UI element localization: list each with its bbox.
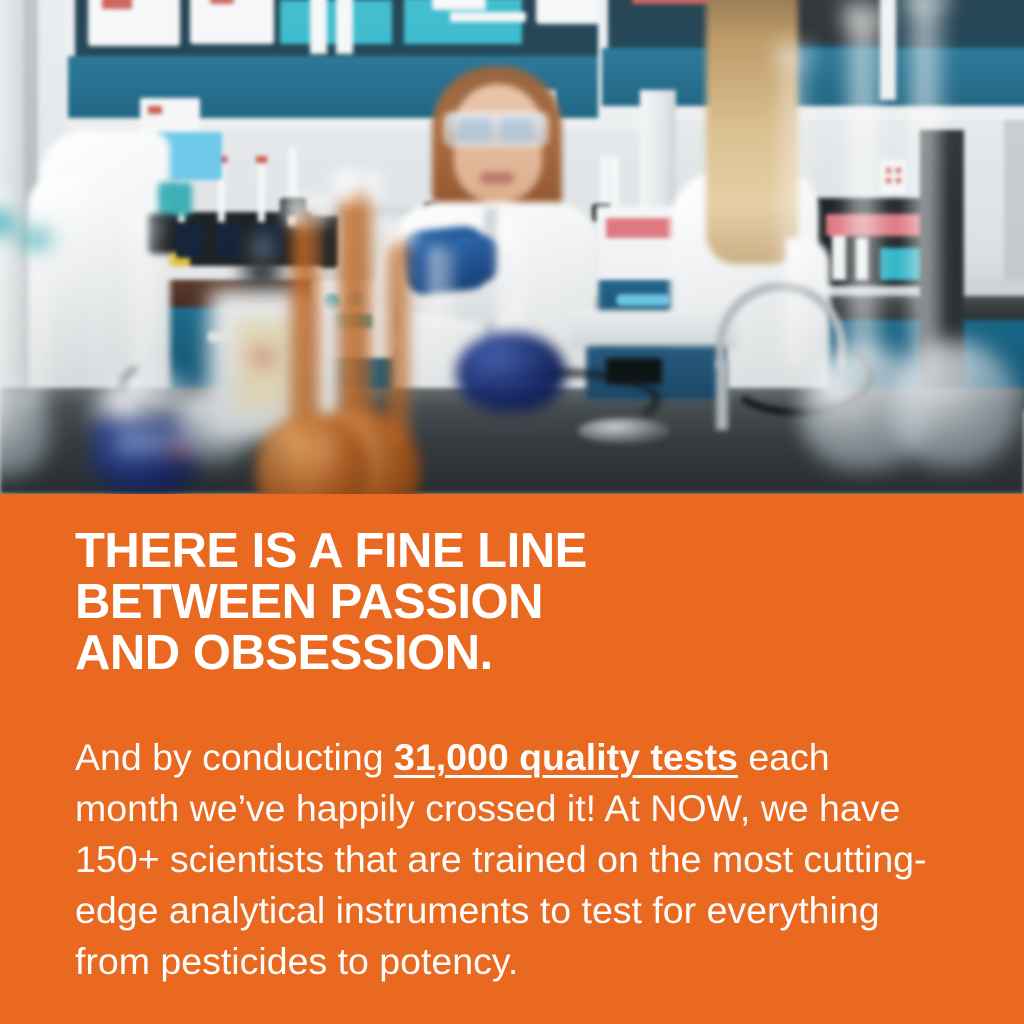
- amber-flask-1-neck: [338, 192, 372, 442]
- headline-line-3: AND OBSESSION.: [75, 628, 975, 679]
- laboratory-photo: 500: [0, 0, 1024, 494]
- blue-flask-neck: [494, 218, 524, 348]
- amber-flask-2-stopper: [280, 194, 330, 226]
- headline-line-1: THERE IS A FINE LINE: [75, 526, 975, 577]
- beaker-near-hand: [426, 246, 452, 330]
- body-text-before: And by conducting: [75, 736, 394, 778]
- amber-flask-3-stopper: [378, 222, 418, 248]
- promo-graphic: 500: [0, 0, 1024, 1024]
- amber-flask-2-neck: [290, 214, 320, 444]
- orange-text-panel: THERE IS A FINE LINE BETWEEN PASSION AND…: [0, 494, 1024, 1024]
- quality-tests-emphasis: 31,000 quality tests: [394, 736, 738, 778]
- headline-line-2: BETWEEN PASSION: [75, 577, 975, 628]
- headline: THERE IS A FINE LINE BETWEEN PASSION AND…: [75, 526, 975, 679]
- body-paragraph: And by conducting 31,000 quality tests e…: [75, 732, 937, 987]
- amber-flask-3-neck: [386, 238, 410, 442]
- amber-flask-1-stopper: [328, 170, 382, 204]
- blue-flask-bulb: [456, 332, 566, 412]
- photo-foreground-amber-layer: [0, 0, 1024, 494]
